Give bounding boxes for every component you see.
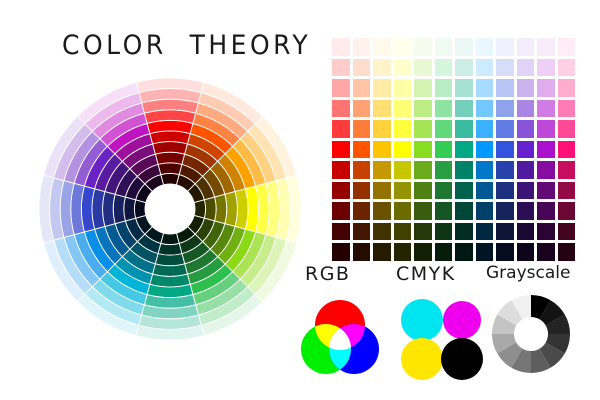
- swatch-amber-shade-1: [373, 161, 391, 179]
- swatch-blue-shade-3: [496, 202, 514, 220]
- swatch-yellow-tint-1: [394, 120, 412, 138]
- swatch-magenta-pure: [537, 141, 555, 159]
- swatch-teal-shade-5: [455, 243, 473, 261]
- swatch-violet-shade-2: [517, 182, 535, 200]
- swatch-yellow-green-shade-5: [414, 243, 432, 261]
- swatch-azure-tint-2: [476, 100, 494, 118]
- swatch-red-tint-3: [332, 79, 350, 97]
- swatch-violet-pure: [517, 141, 535, 159]
- swatch-yellow-pure: [394, 141, 412, 159]
- wheel-segment-teal-shade-2: [153, 264, 188, 277]
- swatch-magenta-tint-4: [537, 59, 555, 77]
- swatch-pink-shade-5: [558, 243, 576, 261]
- wheel-segment-teal-shade-1: [150, 274, 190, 287]
- color-wheel: [38, 77, 302, 341]
- swatch-violet-shade-1: [517, 161, 535, 179]
- swatch-violet-tint-4: [517, 59, 535, 77]
- swatch-green-shade-5: [435, 243, 453, 261]
- swatch-blue-shade-1: [496, 161, 514, 179]
- swatch-violet-shade-5: [517, 243, 535, 261]
- swatch-green-pure: [435, 141, 453, 159]
- wheel-segment-teal-shade-4: [158, 243, 182, 255]
- swatch-pink-shade-1: [558, 161, 576, 179]
- wheel-segment-blue-shade-1: [92, 189, 105, 229]
- swatch-pink-tint-3: [558, 79, 576, 97]
- swatch-teal-tint-2: [455, 100, 473, 118]
- swatch-violet-tint-5: [517, 38, 535, 56]
- swatch-azure-shade-4: [476, 223, 494, 241]
- swatch-yellow-shade-4: [394, 223, 412, 241]
- wheel-center-hole: [145, 184, 195, 234]
- swatch-pink-tint-1: [558, 120, 576, 138]
- swatch-teal-pure: [455, 141, 473, 159]
- swatch-grid: [332, 38, 575, 261]
- wheel-segment-red-shade-3: [155, 152, 184, 164]
- swatch-yellow-green-tint-4: [414, 59, 432, 77]
- swatch-orange-red-tint-1: [353, 120, 371, 138]
- rgb-label: RGB: [305, 263, 350, 285]
- swatch-magenta-tint-2: [537, 100, 555, 118]
- swatch-magenta-shade-1: [537, 161, 555, 179]
- swatch-azure-shade-3: [476, 202, 494, 220]
- rgb-additive-venn-diagram: [297, 296, 383, 382]
- swatch-teal-shade-3: [455, 202, 473, 220]
- wheel-segment-blue-shade-4: [124, 197, 136, 221]
- swatch-green-shade-1: [435, 161, 453, 179]
- swatch-blue-tint-2: [496, 100, 514, 118]
- swatch-red-shade-5: [332, 243, 350, 261]
- swatch-red-tint-4: [332, 59, 350, 77]
- swatch-red-shade-1: [332, 161, 350, 179]
- swatch-teal-tint-1: [455, 120, 473, 138]
- wheel-segment-red-shade-2: [153, 142, 188, 155]
- wheel-segment-yellow-shade-4: [204, 197, 216, 221]
- swatch-orange-red-tint-2: [353, 100, 371, 118]
- cmyk-circle-magenta: [443, 301, 481, 339]
- swatch-violet-tint-2: [517, 100, 535, 118]
- swatch-azure-shade-5: [476, 243, 494, 261]
- grayscale-label: Grayscale: [486, 263, 570, 283]
- swatch-yellow-green-tint-2: [414, 100, 432, 118]
- swatch-violet-tint-3: [517, 79, 535, 97]
- wheel-segment-red-shade-5: [161, 173, 179, 184]
- swatch-orange-red-shade-4: [353, 223, 371, 241]
- swatch-magenta-shade-5: [537, 243, 555, 261]
- swatch-amber-shade-2: [373, 182, 391, 200]
- wheel-segment-yellow-shade-3: [215, 194, 227, 223]
- swatch-yellow-tint-4: [394, 59, 412, 77]
- swatch-blue-shade-2: [496, 182, 514, 200]
- swatch-yellow-shade-5: [394, 243, 412, 261]
- swatch-azure-tint-4: [476, 59, 494, 77]
- swatch-green-tint-4: [435, 59, 453, 77]
- swatch-yellow-green-shade-3: [414, 202, 432, 220]
- swatch-azure-shade-1: [476, 161, 494, 179]
- swatch-amber-shade-4: [373, 223, 391, 241]
- swatch-magenta-tint-1: [537, 120, 555, 138]
- swatch-yellow-green-shade-2: [414, 182, 432, 200]
- wheel-segment-teal-shade-5: [161, 233, 179, 244]
- cmyk-circle-key: [441, 338, 483, 380]
- swatch-yellow-green-pure: [414, 141, 432, 159]
- swatch-azure-tint-1: [476, 120, 494, 138]
- cmyk-ink-circles: [400, 298, 482, 380]
- swatch-azure-pure: [476, 141, 494, 159]
- wheel-segment-blue-shade-3: [113, 194, 125, 223]
- swatch-green-tint-1: [435, 120, 453, 138]
- swatch-teal-tint-4: [455, 59, 473, 77]
- swatch-red-tint-2: [332, 100, 350, 118]
- wheel-segment-red-shade-1: [150, 131, 190, 144]
- wheel-segment-red-shade-4: [158, 163, 182, 175]
- swatch-violet-tint-1: [517, 120, 535, 138]
- swatch-pink-shade-2: [558, 182, 576, 200]
- swatch-amber-tint-3: [373, 79, 391, 97]
- cmyk-circle-cyan: [401, 299, 443, 341]
- swatch-orange-red-shade-2: [353, 182, 371, 200]
- swatch-yellow-shade-1: [394, 161, 412, 179]
- swatch-magenta-tint-3: [537, 79, 555, 97]
- page-title: COLOR THEORY: [62, 30, 311, 60]
- swatch-yellow-green-tint-3: [414, 79, 432, 97]
- swatch-blue-tint-1: [496, 120, 514, 138]
- wheel-segment-yellow-shade-2: [225, 192, 238, 227]
- swatch-blue-tint-5: [496, 38, 514, 56]
- swatch-pink-tint-2: [558, 100, 576, 118]
- swatch-green-shade-3: [435, 202, 453, 220]
- swatch-teal-shade-2: [455, 182, 473, 200]
- swatch-magenta-shade-3: [537, 202, 555, 220]
- swatch-azure-tint-5: [476, 38, 494, 56]
- swatch-amber-tint-1: [373, 120, 391, 138]
- swatch-orange-red-tint-3: [353, 79, 371, 97]
- swatch-red-shade-4: [332, 223, 350, 241]
- swatch-green-tint-2: [435, 100, 453, 118]
- swatch-orange-red-tint-5: [353, 38, 371, 56]
- grayscale-wheel: [491, 294, 573, 376]
- swatch-red-tint-1: [332, 120, 350, 138]
- wheel-segment-yellow-shade-5: [194, 200, 205, 218]
- swatch-pink-tint-5: [558, 38, 576, 56]
- swatch-yellow-tint-2: [394, 100, 412, 118]
- swatch-violet-shade-4: [517, 223, 535, 241]
- swatch-magenta-shade-4: [537, 223, 555, 241]
- swatch-yellow-shade-3: [394, 202, 412, 220]
- swatch-yellow-green-tint-5: [414, 38, 432, 56]
- swatch-yellow-green-shade-4: [414, 223, 432, 241]
- swatch-pink-shade-4: [558, 223, 576, 241]
- swatch-azure-shade-2: [476, 182, 494, 200]
- swatch-red-pure: [332, 141, 350, 159]
- swatch-teal-tint-3: [455, 79, 473, 97]
- wheel-segment-yellow-shade-1: [235, 189, 248, 229]
- swatch-orange-red-shade-3: [353, 202, 371, 220]
- cmyk-circle-yellow: [401, 338, 443, 380]
- swatch-green-shade-4: [435, 223, 453, 241]
- swatch-green-tint-5: [435, 38, 453, 56]
- swatch-teal-tint-5: [455, 38, 473, 56]
- swatch-teal-shade-4: [455, 223, 473, 241]
- swatch-magenta-tint-5: [537, 38, 555, 56]
- wheel-segment-blue-shade-5: [134, 200, 145, 218]
- swatch-amber-tint-2: [373, 100, 391, 118]
- swatch-blue-shade-4: [496, 223, 514, 241]
- wheel-segment-blue-shade-2: [103, 192, 116, 227]
- swatch-red-tint-5: [332, 38, 350, 56]
- swatch-red-shade-3: [332, 202, 350, 220]
- swatch-orange-red-pure: [353, 141, 371, 159]
- swatch-blue-tint-3: [496, 79, 514, 97]
- swatch-pink-tint-4: [558, 59, 576, 77]
- swatch-green-shade-2: [435, 182, 453, 200]
- swatch-magenta-shade-2: [537, 182, 555, 200]
- swatch-blue-shade-5: [496, 243, 514, 261]
- swatch-pink-pure: [558, 141, 576, 159]
- swatch-yellow-green-shade-1: [414, 161, 432, 179]
- wheel-segment-teal-shade-3: [155, 254, 184, 266]
- cmyk-label: CMYK: [396, 263, 456, 285]
- swatch-red-shade-2: [332, 182, 350, 200]
- swatch-pink-shade-3: [558, 202, 576, 220]
- swatch-blue-tint-4: [496, 59, 514, 77]
- swatch-yellow-green-tint-1: [414, 120, 432, 138]
- swatch-amber-tint-5: [373, 38, 391, 56]
- swatch-teal-shade-1: [455, 161, 473, 179]
- swatch-orange-red-shade-5: [353, 243, 371, 261]
- swatch-blue-pure: [496, 141, 514, 159]
- swatch-yellow-tint-3: [394, 79, 412, 97]
- swatch-violet-shade-3: [517, 202, 535, 220]
- swatch-amber-tint-4: [373, 59, 391, 77]
- swatch-amber-shade-3: [373, 202, 391, 220]
- swatch-yellow-shade-2: [394, 182, 412, 200]
- swatch-yellow-tint-5: [394, 38, 412, 56]
- swatch-orange-red-shade-1: [353, 161, 371, 179]
- swatch-amber-shade-5: [373, 243, 391, 261]
- swatch-azure-tint-3: [476, 79, 494, 97]
- swatch-amber-pure: [373, 141, 391, 159]
- color-theory-infographic: COLOR THEORY RGB CMYK Grayscale: [0, 0, 600, 400]
- swatch-orange-red-tint-4: [353, 59, 371, 77]
- swatch-green-tint-3: [435, 79, 453, 97]
